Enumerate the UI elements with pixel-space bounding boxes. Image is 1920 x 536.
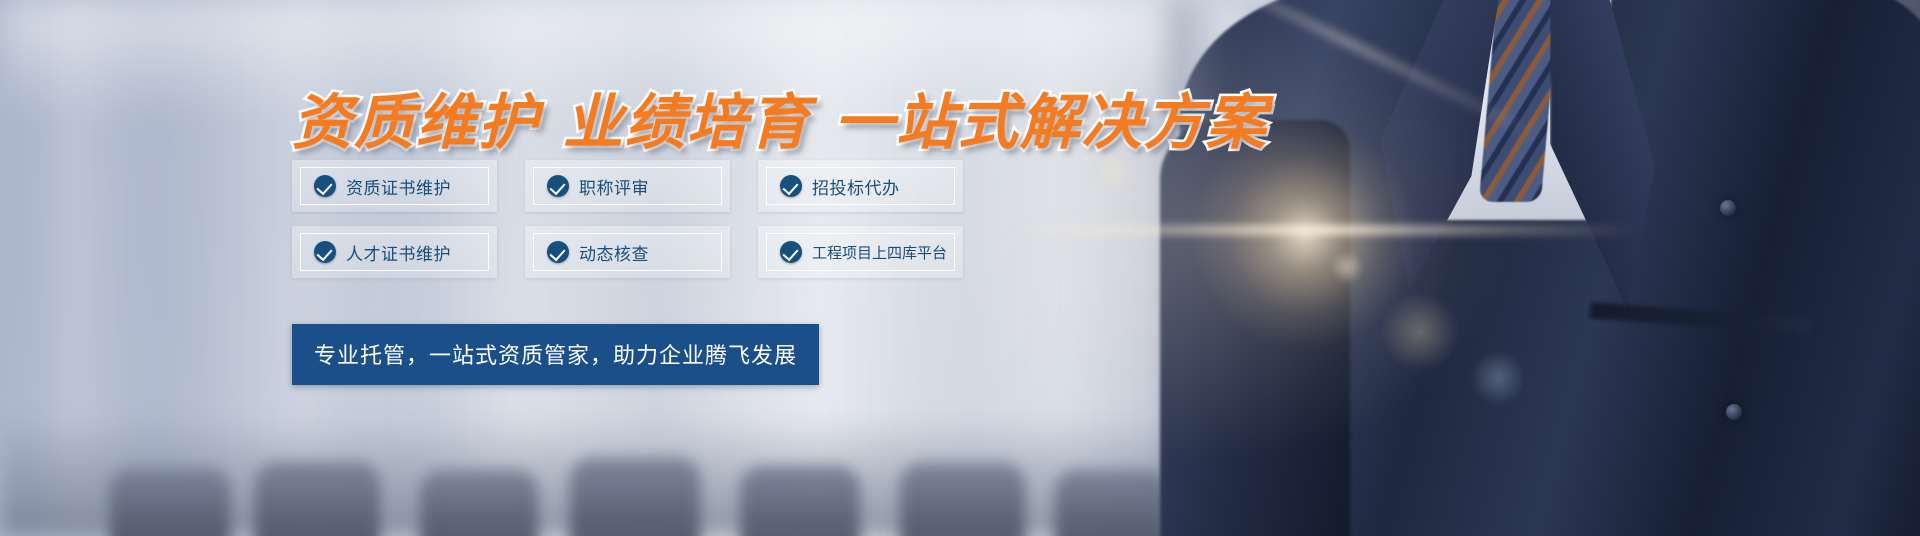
feature-label: 职称评审 [579, 174, 649, 199]
feature-label: 工程项目上四库平台 [812, 242, 947, 263]
feature-card-inner: 职称评审 [533, 167, 722, 205]
banner-headline: 资质维护 业绩培育 一站式解决方案 [292, 74, 1268, 161]
feature-card[interactable]: 人才证书维护 [292, 226, 497, 278]
banner-content: 资质维护 业绩培育 一站式解决方案 资质证书维护 职称评审 [0, 0, 1920, 536]
check-circle-icon [314, 241, 336, 263]
check-circle-icon [780, 241, 802, 263]
check-circle-icon [780, 175, 802, 197]
feature-label: 人才证书维护 [346, 240, 451, 265]
feature-label: 动态核查 [579, 240, 649, 265]
feature-card[interactable]: 工程项目上四库平台 [758, 226, 963, 278]
feature-row: 资质证书维护 职称评审 招投标代办 [292, 160, 964, 212]
feature-card-inner: 工程项目上四库平台 [766, 233, 955, 271]
feature-card[interactable]: 职称评审 [525, 160, 730, 212]
banner-tagline: 专业托管，一站式资质管家，助力企业腾飞发展 [292, 324, 819, 385]
check-circle-icon [547, 241, 569, 263]
feature-grid: 资质证书维护 职称评审 招投标代办 [292, 160, 964, 292]
check-circle-icon [314, 175, 336, 197]
feature-card-inner: 人才证书维护 [300, 233, 489, 271]
feature-card-inner: 动态核查 [533, 233, 722, 271]
feature-label: 招投标代办 [812, 174, 900, 199]
feature-card[interactable]: 动态核查 [525, 226, 730, 278]
feature-card[interactable]: 招投标代办 [758, 160, 963, 212]
feature-row: 人才证书维护 动态核查 工程项目上四库平台 [292, 226, 964, 278]
feature-card-inner: 招投标代办 [766, 167, 955, 205]
feature-label: 资质证书维护 [346, 174, 451, 199]
feature-card[interactable]: 资质证书维护 [292, 160, 497, 212]
feature-card-inner: 资质证书维护 [300, 167, 489, 205]
promo-banner: 资质维护 业绩培育 一站式解决方案 资质证书维护 职称评审 [0, 0, 1920, 536]
check-circle-icon [547, 175, 569, 197]
